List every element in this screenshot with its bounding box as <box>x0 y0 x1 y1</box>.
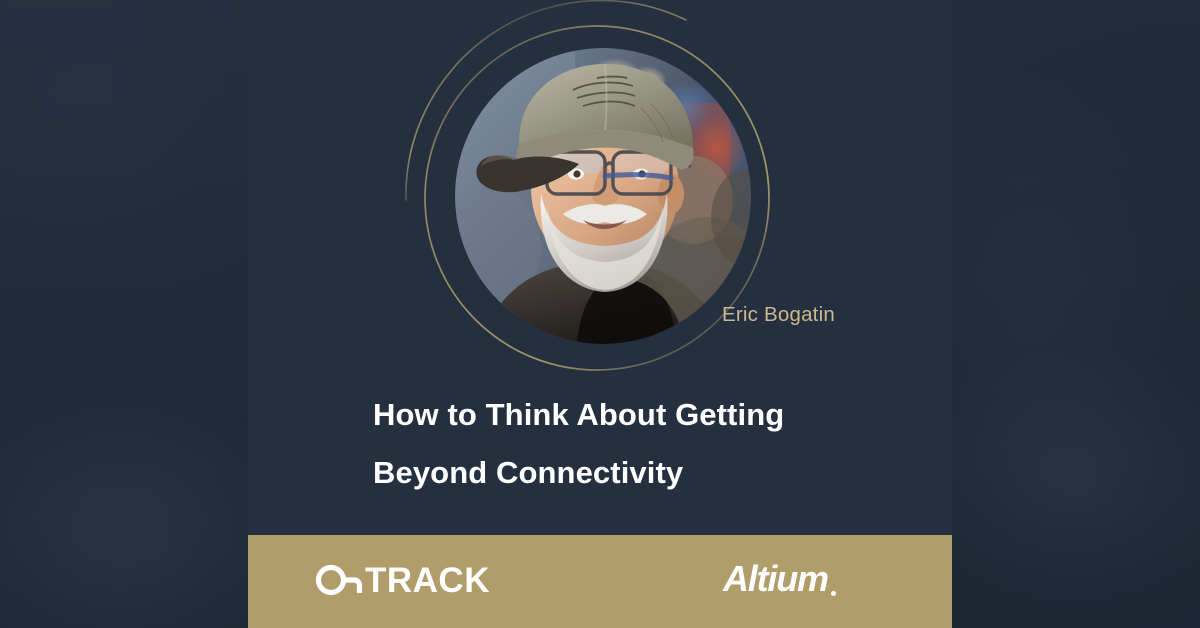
ontrack-key-icon <box>314 562 364 598</box>
speaker-name: Eric Bogatin <box>722 303 835 327</box>
footer-bar: TRACK Altium <box>248 535 952 628</box>
altium-wordmark: Altium <box>723 561 828 597</box>
page-title: How to Think About Getting Beyond Connec… <box>373 386 913 502</box>
content-card: Eric Bogatin How to Think About Getting … <box>248 0 952 628</box>
title-line-1: How to Think About Getting <box>373 386 913 444</box>
speaker-portrait <box>455 48 751 344</box>
altium-logo[interactable]: Altium <box>723 561 836 597</box>
ontrack-logo[interactable]: TRACK <box>314 558 490 602</box>
altium-trademark-dot <box>831 591 836 596</box>
title-line-2: Beyond Connectivity <box>373 444 913 502</box>
ontrack-wordmark: TRACK <box>365 563 490 598</box>
promo-banner: Eric Bogatin How to Think About Getting … <box>0 0 1200 628</box>
portrait-illustration <box>455 48 751 344</box>
